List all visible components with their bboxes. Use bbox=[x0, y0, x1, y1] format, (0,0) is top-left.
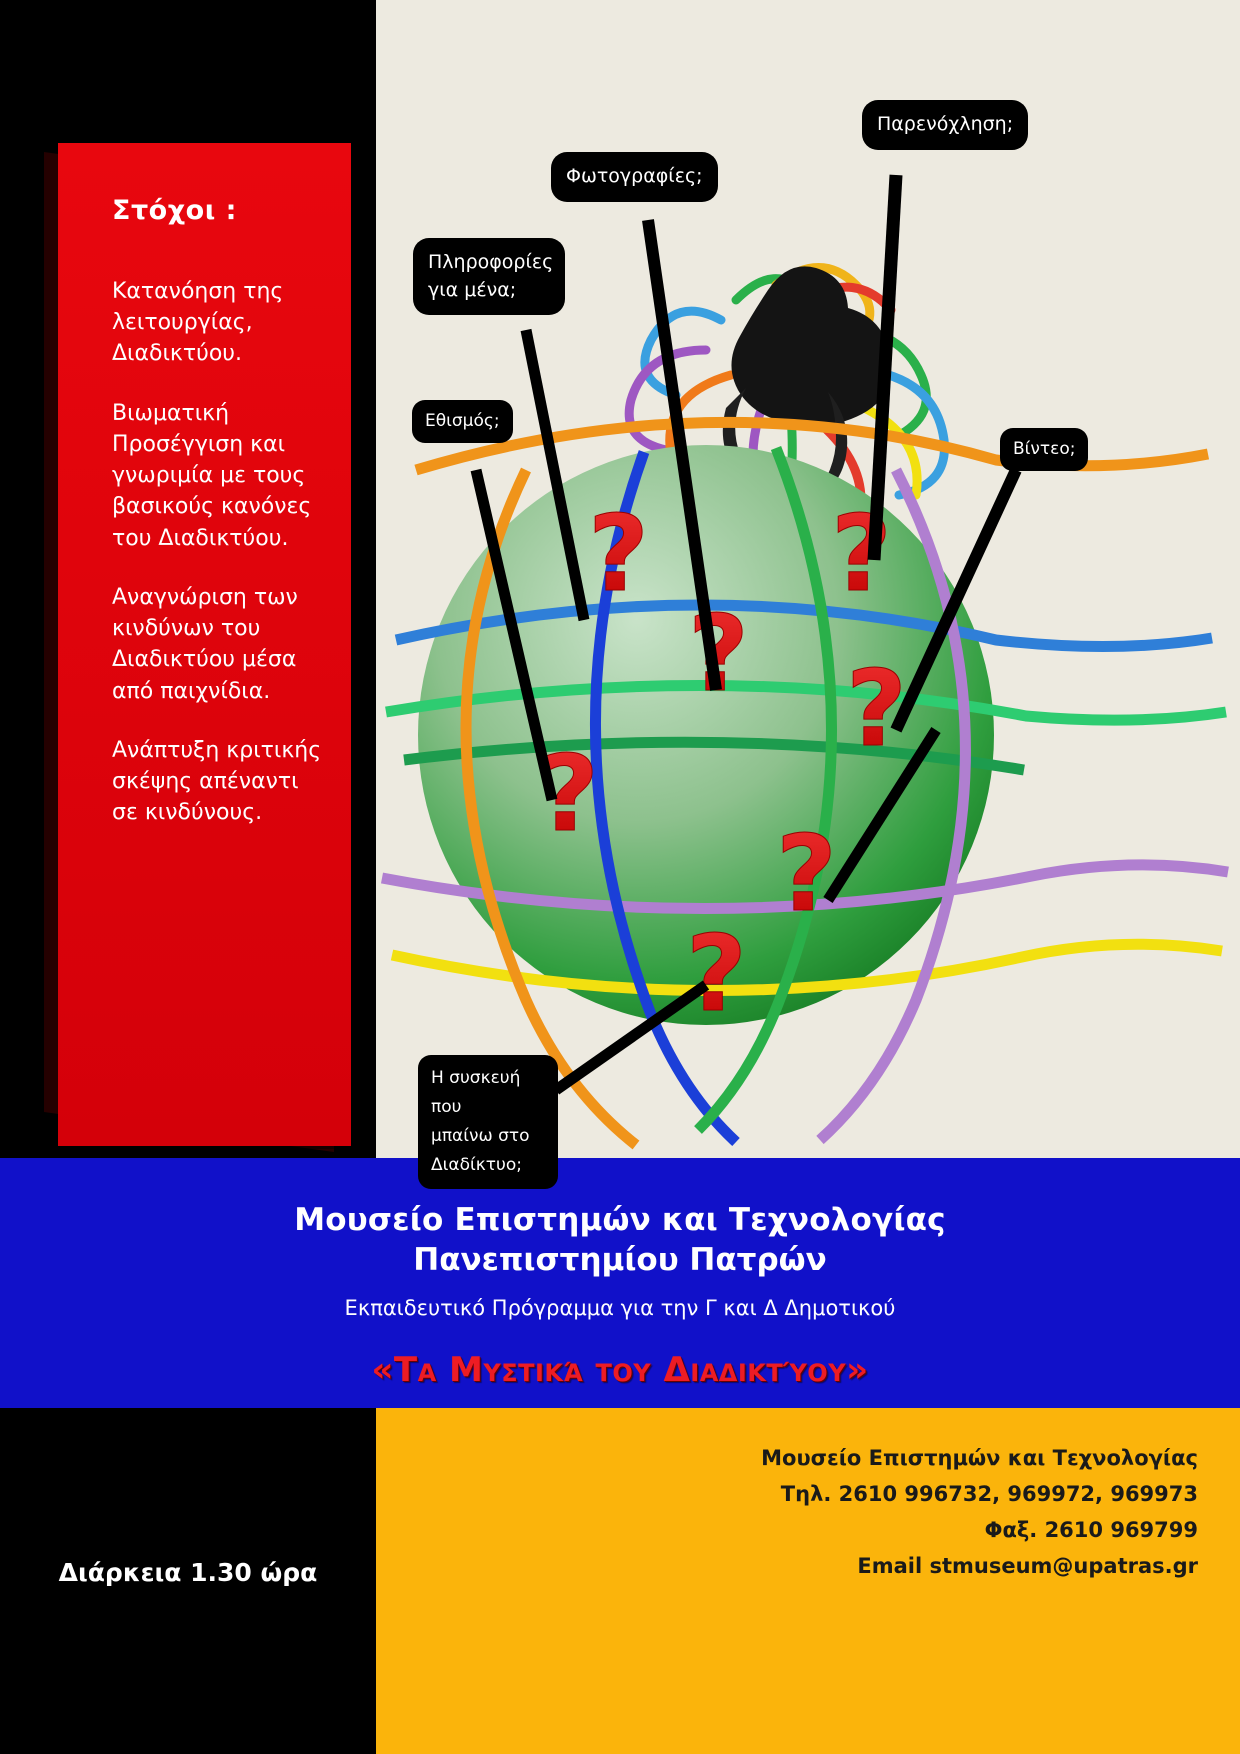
objective-item: Βιωματική Προσέγγιση και γνωριμία με του… bbox=[112, 398, 324, 554]
bubble-my-info: Πληροφορίες για μένα; bbox=[413, 238, 565, 315]
program-subtitle: Εκπαιδευτικό Πρόγραμμα για την Γ και Δ Δ… bbox=[345, 1296, 896, 1320]
contact-phone: Τηλ. 2610 996732, 969972, 969973 bbox=[376, 1476, 1198, 1512]
contact-panel: Μουσείο Επιστημών και Τεχνολογίας Τηλ. 2… bbox=[376, 1408, 1240, 1754]
objective-item: Κατανόηση της λειτουργίας, Διαδικτύου. bbox=[112, 276, 324, 370]
objectives-title: Στόχοι : bbox=[112, 195, 325, 226]
objectives-panel: Στόχοι : Κατανόηση της λειτουργίας, Διαδ… bbox=[58, 143, 351, 1146]
museum-name-line2: Πανεπιστημίου Πατρών bbox=[413, 1242, 826, 1278]
museum-name-line1: Μουσείο Επιστημών και Τεχνολογίας bbox=[294, 1202, 945, 1238]
objective-item: Αναγνώριση των κινδύνων του Διαδικτύου μ… bbox=[112, 582, 324, 707]
bubble-addiction: Εθισμός; bbox=[412, 400, 513, 443]
bubble-photos: Φωτογραφίες; bbox=[551, 152, 718, 202]
duration-panel: Διάρκεια 1.30 ώρα bbox=[0, 1408, 376, 1754]
poster-root: ? ? ? ? ? ? ? Στόχοι : Κα bbox=[0, 0, 1240, 1754]
bubble-harassment: Παρενόχληση; bbox=[862, 100, 1028, 150]
contact-email: Email stmuseum@upatras.gr bbox=[376, 1548, 1198, 1584]
program-title: «Τα Μυστικά του Διαδικτύου» bbox=[371, 1350, 868, 1390]
contact-museum: Μουσείο Επιστημών και Τεχνολογίας bbox=[376, 1440, 1198, 1476]
main-illustration-stage bbox=[376, 0, 1240, 1158]
bubble-video: Βίντεο; bbox=[1000, 428, 1088, 471]
objective-item: Ανάπτυξη κριτικής σκέψης απέναντι σε κιν… bbox=[112, 735, 324, 829]
blue-banner: Μουσείο Επιστημών και Τεχνολογίας Πανεπι… bbox=[0, 1158, 1240, 1408]
contact-fax: Φαξ. 2610 969799 bbox=[376, 1512, 1198, 1548]
bubble-device: Η συσκευή που μπαίνω στο Διαδίκτυο; bbox=[418, 1055, 558, 1189]
duration-text: Διάρκεια 1.30 ώρα bbox=[0, 1558, 376, 1587]
